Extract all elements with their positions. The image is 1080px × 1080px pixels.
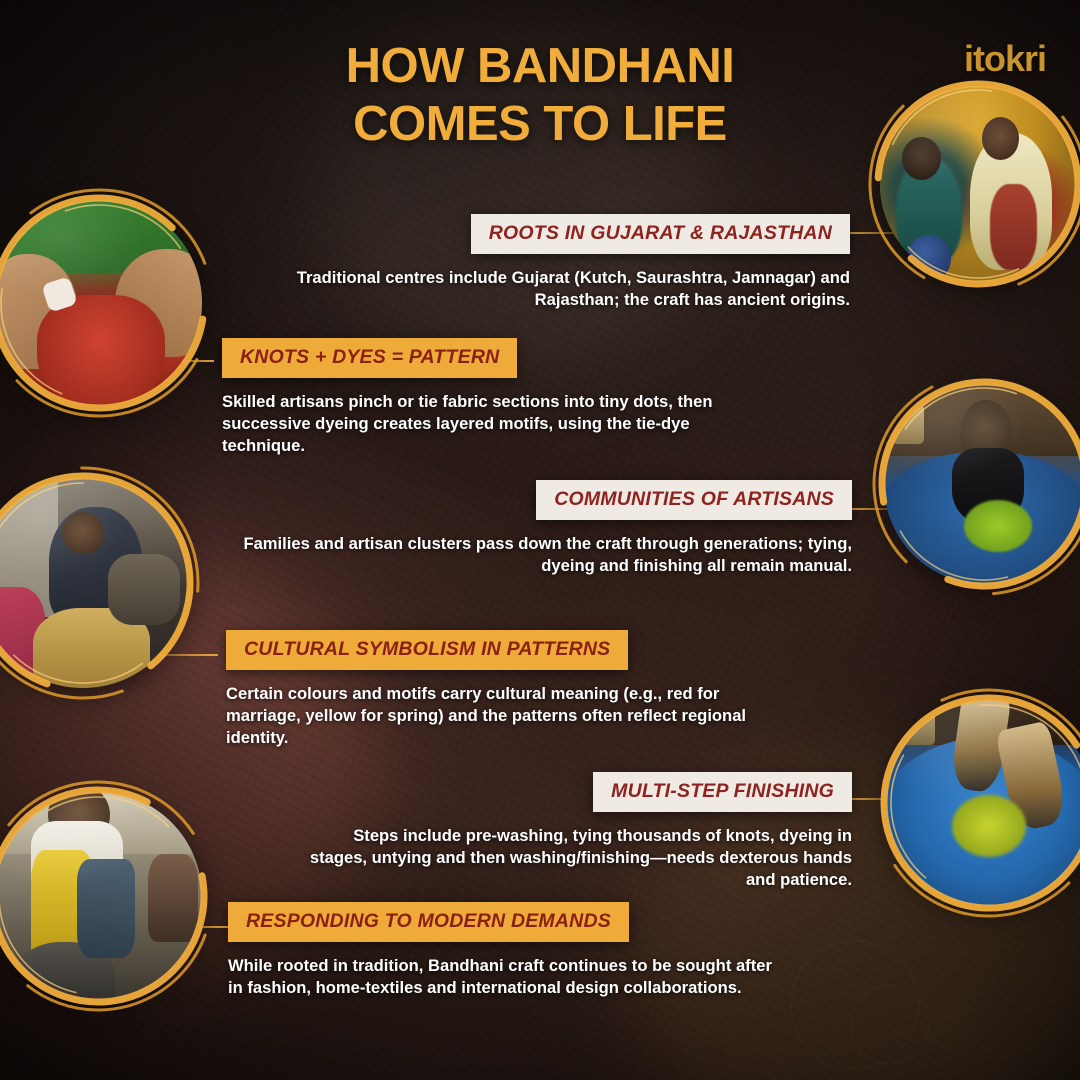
section-header-finishing[interactable]: MULTI-STEP FINISHING bbox=[593, 772, 852, 812]
section-symbolism: CULTURAL SYMBOLISM IN PATTERNS Certain c… bbox=[226, 630, 774, 750]
page-title: HOW BANDHANI COMES TO LIFE bbox=[0, 38, 1080, 154]
section-header-modern-demands[interactable]: RESPONDING TO MODERN DEMANDS bbox=[228, 902, 629, 942]
brand-logo: itokri bbox=[964, 38, 1046, 80]
section-body-communities: Families and artisan clusters pass down … bbox=[240, 533, 852, 577]
photo-image bbox=[0, 792, 202, 1000]
page-title-line-2: COMES TO LIFE bbox=[0, 96, 1080, 154]
photo-man-lifting-yellow-fabric bbox=[0, 792, 202, 1000]
section-header-symbolism[interactable]: CULTURAL SYMBOLISM IN PATTERNS bbox=[226, 630, 628, 670]
section-body-roots: Traditional centres include Gujarat (Kut… bbox=[250, 267, 850, 311]
section-body-finishing: Steps include pre-washing, tying thousan… bbox=[300, 825, 852, 892]
section-header-communities[interactable]: COMMUNITIES OF ARTISANS bbox=[536, 480, 852, 520]
photo-artisan-dyeing-vat bbox=[884, 384, 1080, 584]
photo-image bbox=[886, 700, 1080, 906]
photo-disc bbox=[884, 384, 1080, 584]
photo-image bbox=[884, 384, 1080, 584]
brand-logo-text: itokri bbox=[964, 38, 1046, 79]
photo-image bbox=[0, 200, 202, 406]
photo-disc bbox=[886, 700, 1080, 906]
photo-disc bbox=[0, 478, 188, 688]
section-body-knots-dyes: Skilled artisans pinch or tie fabric sec… bbox=[222, 391, 752, 458]
section-roots: ROOTS IN GUJARAT & RAJASTHAN Traditional… bbox=[250, 214, 850, 311]
section-modern-demands: RESPONDING TO MODERN DEMANDS While roote… bbox=[228, 902, 788, 999]
photo-woman-artisan-seated bbox=[0, 478, 188, 688]
section-header-knots-dyes[interactable]: KNOTS + DYES = PATTERN bbox=[222, 338, 517, 378]
photo-disc bbox=[0, 200, 202, 406]
page-title-line-1: HOW BANDHANI bbox=[346, 39, 735, 93]
section-header-roots[interactable]: ROOTS IN GUJARAT & RAJASTHAN bbox=[471, 214, 850, 254]
photo-blue-dye-vat bbox=[886, 700, 1080, 906]
photo-hands-tying-red-fabric bbox=[0, 200, 202, 406]
section-body-symbolism: Certain colours and motifs carry cultura… bbox=[226, 683, 774, 750]
photo-disc bbox=[0, 792, 202, 1000]
section-finishing: MULTI-STEP FINISHING Steps include pre-w… bbox=[300, 772, 852, 892]
photo-image bbox=[0, 478, 188, 688]
section-knots-dyes: KNOTS + DYES = PATTERN Skilled artisans … bbox=[222, 338, 752, 458]
section-body-modern-demands: While rooted in tradition, Bandhani craf… bbox=[228, 955, 788, 999]
section-communities: COMMUNITIES OF ARTISANS Families and art… bbox=[240, 480, 852, 577]
